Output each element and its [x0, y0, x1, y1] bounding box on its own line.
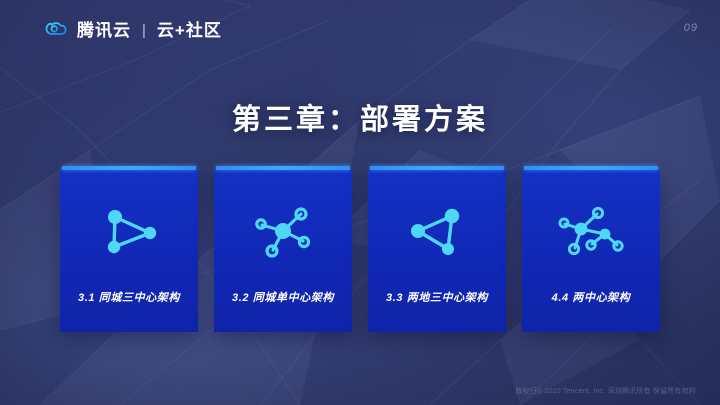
- card-label: 3.2 同城单中心架构: [214, 289, 352, 305]
- card-label: 3.1 同城三中心架构: [60, 289, 198, 305]
- card-accent-bar: [370, 166, 504, 170]
- chapter-card-list: 3.1 同城三中心架构 3.2: [60, 170, 660, 332]
- triangle-three-node-topology-icon: [92, 200, 166, 264]
- tencent-cloud-logo-icon: [44, 17, 70, 43]
- chapter-card-3-2[interactable]: 3.2 同城单中心架构: [214, 170, 352, 332]
- chapter-card-4-4[interactable]: 4.4 两中心架构: [522, 170, 660, 332]
- card-accent-bar: [62, 166, 196, 170]
- card-label: 3.3 两地三中心架构: [368, 289, 506, 305]
- slide-header: 腾讯云 | 云+社区 09: [0, 0, 720, 56]
- page-number: 09: [684, 22, 698, 34]
- logo-text-secondary: 云+社区: [157, 22, 222, 39]
- slide-root: 腾讯云 | 云+社区 09 第三章：部署方案: [0, 0, 720, 405]
- logo-separator: |: [142, 22, 146, 39]
- star-hub-four-spoke-topology-icon: [246, 200, 320, 264]
- brand-logo[interactable]: 腾讯云 | 云+社区: [44, 17, 222, 43]
- card-accent-bar: [216, 166, 350, 170]
- logo-text-primary: 腾讯云: [77, 22, 131, 39]
- dual-hub-network-topology-icon: [554, 200, 628, 264]
- triangle-three-node-mirrored-topology-icon: [400, 200, 474, 264]
- card-accent-bar: [524, 166, 658, 170]
- chapter-card-3-1[interactable]: 3.1 同城三中心架构: [60, 170, 198, 332]
- card-label: 4.4 两中心架构: [522, 289, 660, 305]
- chapter-card-3-3[interactable]: 3.3 两地三中心架构: [368, 170, 506, 332]
- page-title: 第三章：部署方案: [0, 96, 720, 138]
- copyright-footer: 版权归© 2020 Tencent, Inc. 深圳腾讯所有 保留所有权利: [515, 386, 696, 396]
